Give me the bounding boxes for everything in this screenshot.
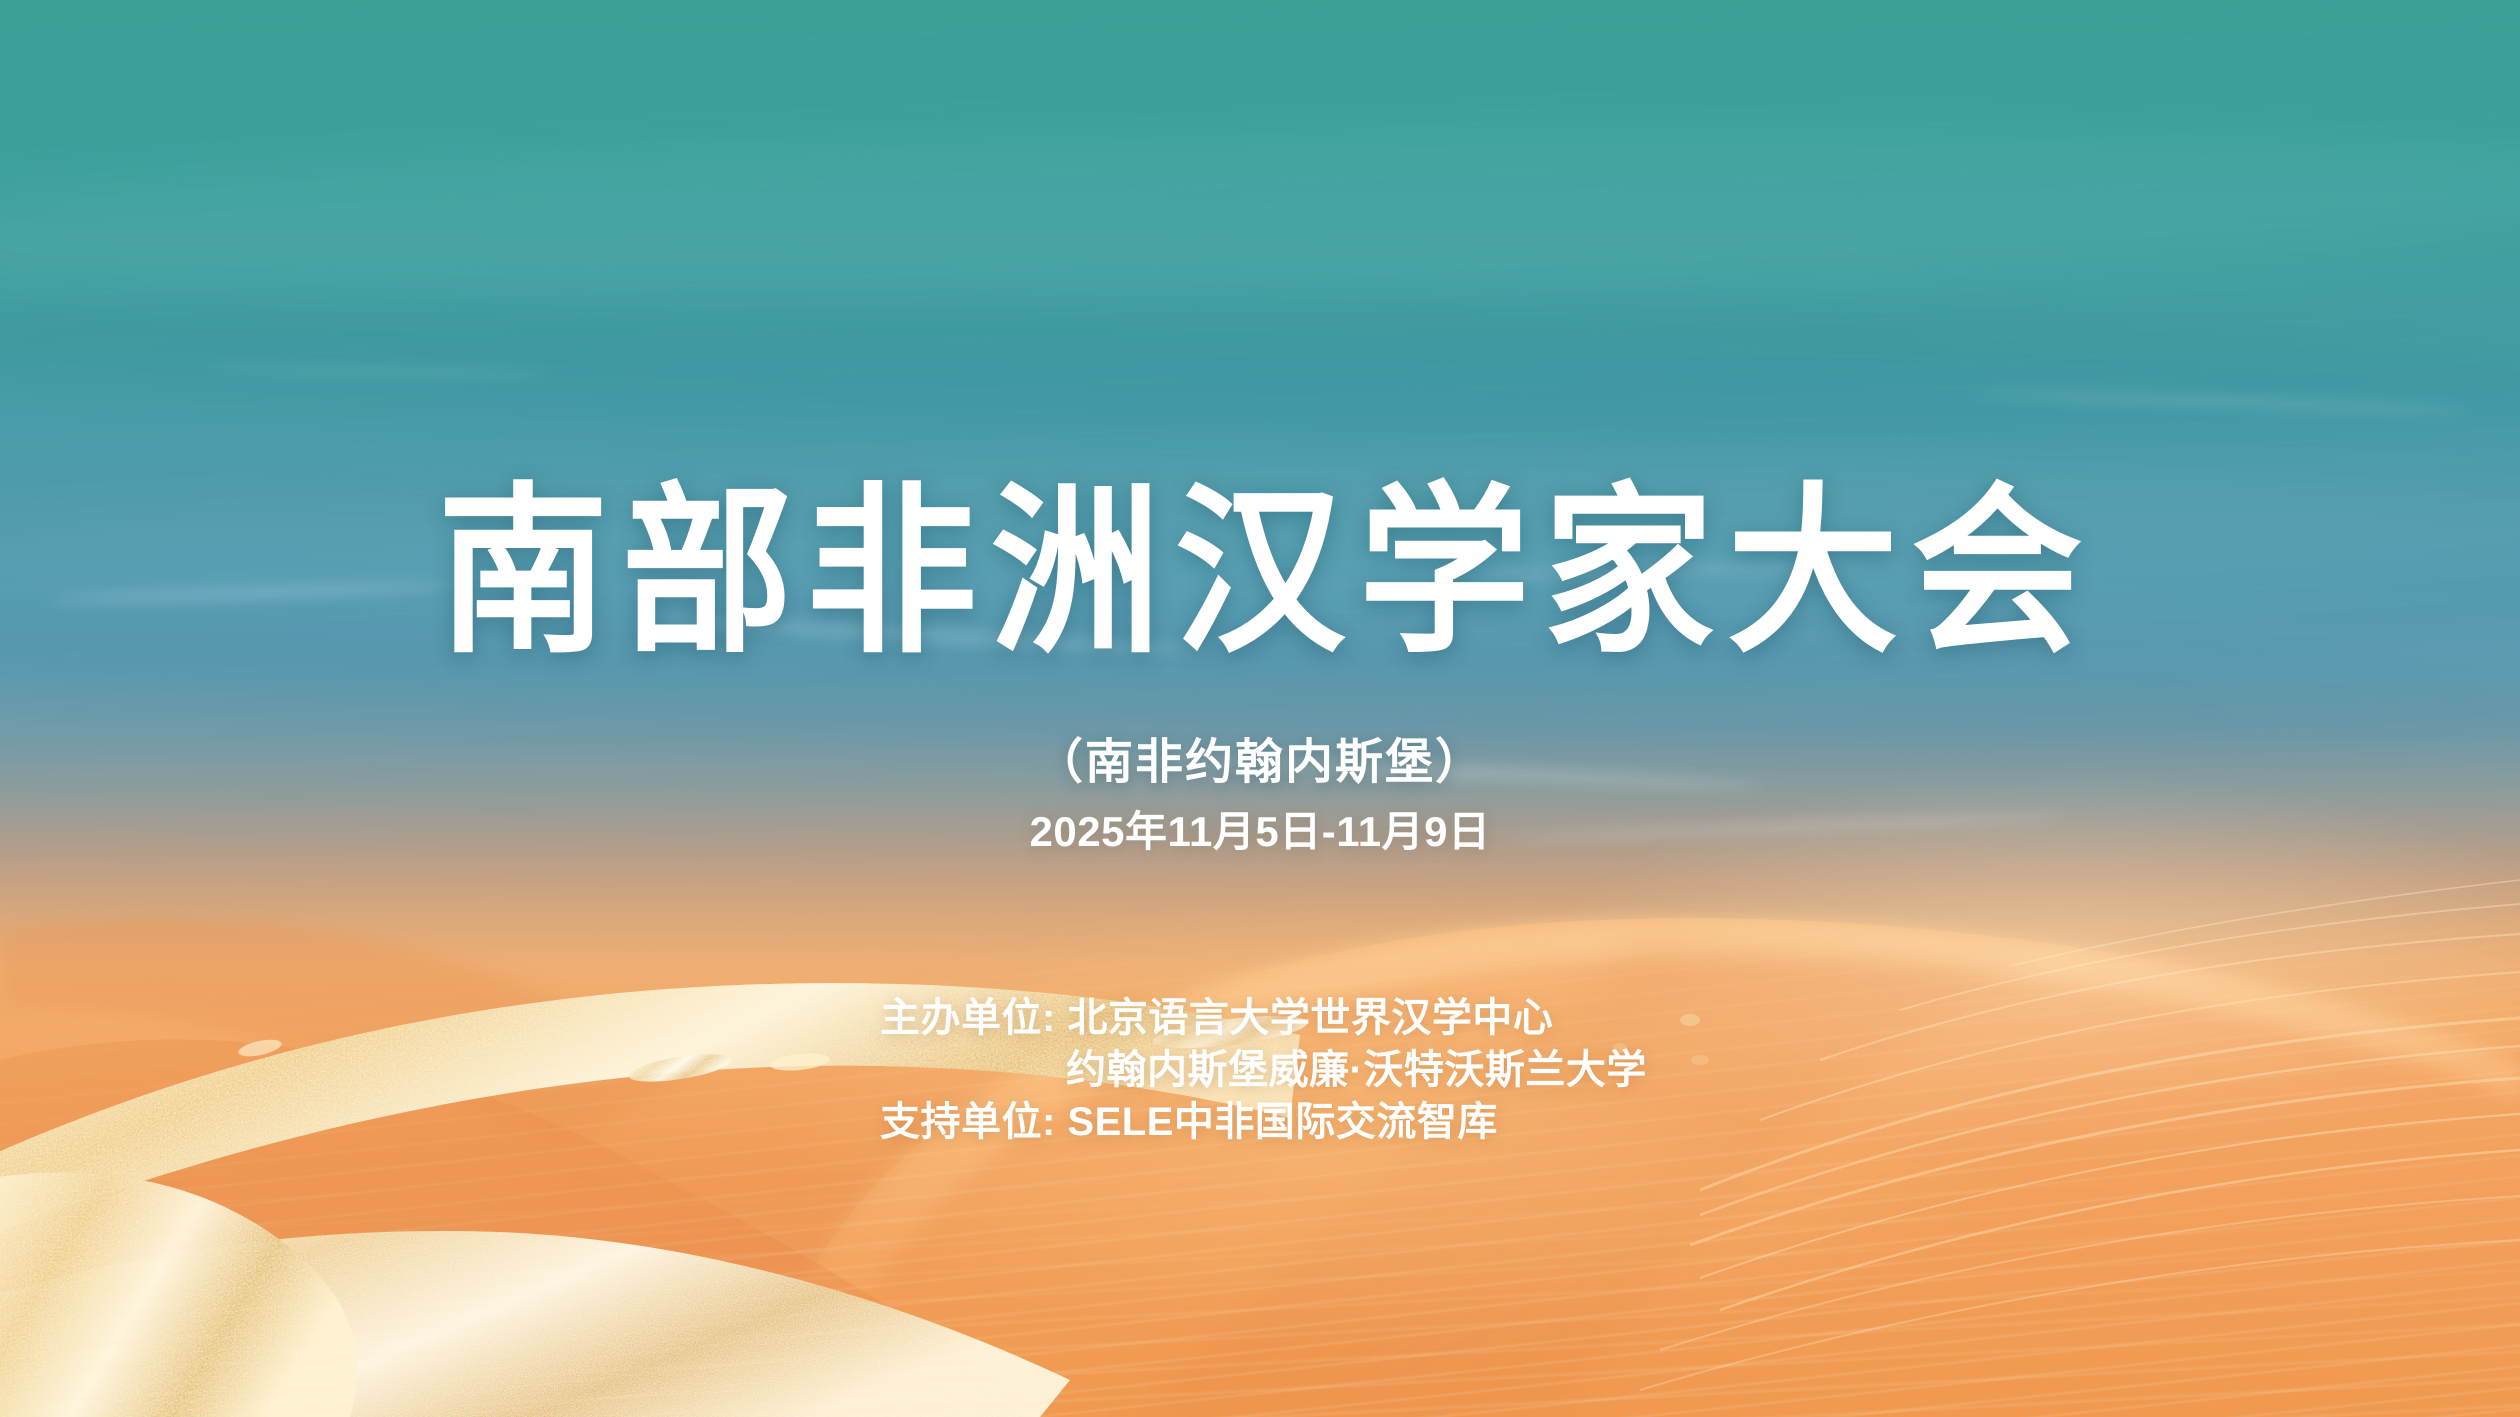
event-dates: 2025年11月5日-11月9日 bbox=[0, 798, 2520, 859]
poster-content: 南部非洲汉学家大会 （南非约翰内斯堡） 2025年11月5日-11月9日 主办单… bbox=[0, 0, 2520, 1417]
organizer-line-host: 主办单位: 北京语言大学世界汉学中心 bbox=[880, 992, 1647, 1044]
page-title: 南部非洲汉学家大会 bbox=[76, 474, 2445, 671]
organizer-block: 主办单位: 北京语言大学世界汉学中心 约翰内斯堡威廉·沃特沃斯兰大学 支持单位:… bbox=[880, 992, 1647, 1148]
subtitle-location: （南非约翰内斯堡） bbox=[0, 722, 2520, 792]
organizer-line-cohost: 约翰内斯堡威廉·沃特沃斯兰大学 bbox=[880, 1044, 1647, 1096]
conference-poster: 南部非洲汉学家大会 （南非约翰内斯堡） 2025年11月5日-11月9日 主办单… bbox=[0, 0, 2520, 1417]
organizer-line-support: 支持单位: SELE中非国际交流智库 bbox=[880, 1096, 1647, 1148]
